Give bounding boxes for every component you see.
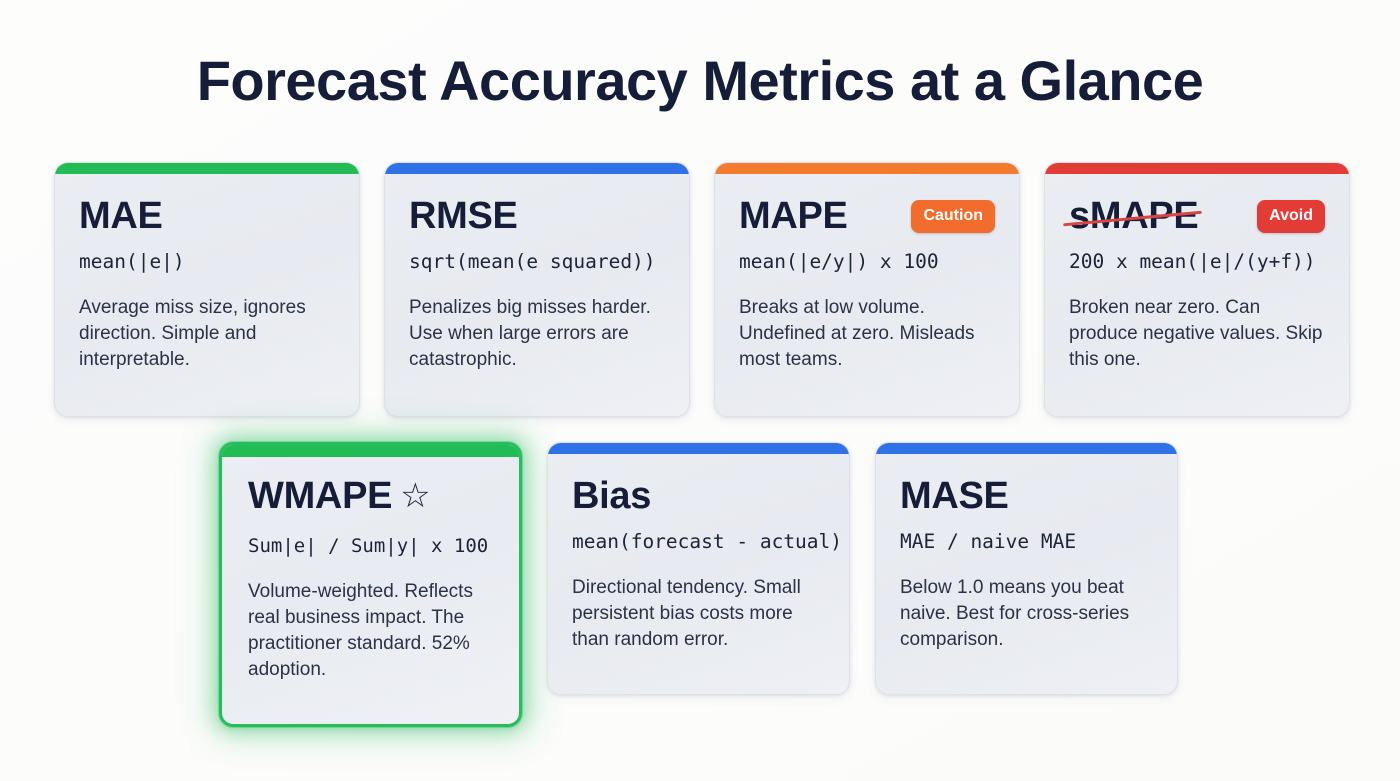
metric-card-bias[interactable]: Bias mean(forecast - actual) Directional… — [547, 442, 850, 695]
metric-card-smape[interactable]: sMAPE Avoid 200 x mean(|e|/(y+f)) Broken… — [1044, 162, 1350, 417]
metric-formula: Sum|e| / Sum|y| x 100 — [248, 533, 497, 559]
metric-formula: mean(|e|) — [79, 249, 335, 275]
card-header: MAE — [79, 193, 335, 239]
metric-description: Penalizes big misses harder. Use when la… — [409, 295, 665, 373]
card-header: MAPE Caution — [739, 193, 995, 239]
metric-card-rmse[interactable]: RMSE sqrt(mean(e squared)) Penalizes big… — [384, 162, 690, 417]
card-accent-bar — [385, 163, 689, 174]
metric-card-row-2: WMAPE ☆ Sum|e| / Sum|y| x 100 Volume-wei… — [219, 442, 1178, 727]
card-header: MASE — [900, 473, 1153, 519]
metric-title: MASE — [900, 473, 1009, 519]
metric-card-mase[interactable]: MASE MAE / naive MAE Below 1.0 means you… — [875, 442, 1178, 695]
card-accent-bar — [548, 443, 849, 454]
metric-title: WMAPE — [248, 473, 392, 519]
status-badge-caution[interactable]: Caution — [911, 200, 995, 233]
infographic-page: Forecast Accuracy Metrics at a Glance MA… — [0, 0, 1400, 781]
metric-description: Breaks at low volume. Undefined at zero.… — [739, 295, 995, 373]
metric-formula: MAE / naive MAE — [900, 529, 1153, 555]
metric-title: Bias — [572, 473, 651, 519]
status-badge-avoid[interactable]: Avoid — [1257, 200, 1325, 233]
metric-card-wmape[interactable]: WMAPE ☆ Sum|e| / Sum|y| x 100 Volume-wei… — [219, 442, 522, 727]
metric-description: Broken near zero. Can produce negative v… — [1069, 295, 1325, 373]
metric-description: Directional tendency. Small persistent b… — [572, 575, 825, 653]
card-accent-bar — [55, 163, 359, 174]
card-accent-bar — [222, 445, 519, 457]
page-title: Forecast Accuracy Metrics at a Glance — [0, 46, 1400, 116]
metric-description: Average miss size, ignores direction. Si… — [79, 295, 335, 373]
metric-formula: mean(forecast - actual) — [572, 529, 825, 555]
metric-description: Volume-weighted. Reflects real business … — [248, 579, 497, 683]
metric-title-strikethrough: sMAPE — [1069, 193, 1198, 239]
metric-title: MAE — [79, 193, 163, 239]
card-accent-bar — [715, 163, 1019, 174]
metric-formula: sqrt(mean(e squared)) — [409, 249, 665, 275]
metric-card-row-1: MAE mean(|e|) Average miss size, ignores… — [54, 162, 1350, 417]
star-icon: ☆ — [400, 473, 430, 519]
card-header: Bias — [572, 473, 825, 519]
metric-description: Below 1.0 means you beat naive. Best for… — [900, 575, 1153, 653]
card-accent-bar — [1045, 163, 1349, 174]
metric-card-mae[interactable]: MAE mean(|e|) Average miss size, ignores… — [54, 162, 360, 417]
metric-title: RMSE — [409, 193, 518, 239]
card-header: RMSE — [409, 193, 665, 239]
card-header: WMAPE ☆ — [248, 473, 497, 519]
metric-formula: mean(|e/y|) x 100 — [739, 249, 995, 275]
metric-formula: 200 x mean(|e|/(y+f)) — [1069, 249, 1325, 275]
card-header: sMAPE Avoid — [1069, 193, 1325, 239]
metric-card-mape[interactable]: MAPE Caution mean(|e/y|) x 100 Breaks at… — [714, 162, 1020, 417]
metric-title: MAPE — [739, 193, 848, 239]
card-accent-bar — [876, 443, 1177, 454]
